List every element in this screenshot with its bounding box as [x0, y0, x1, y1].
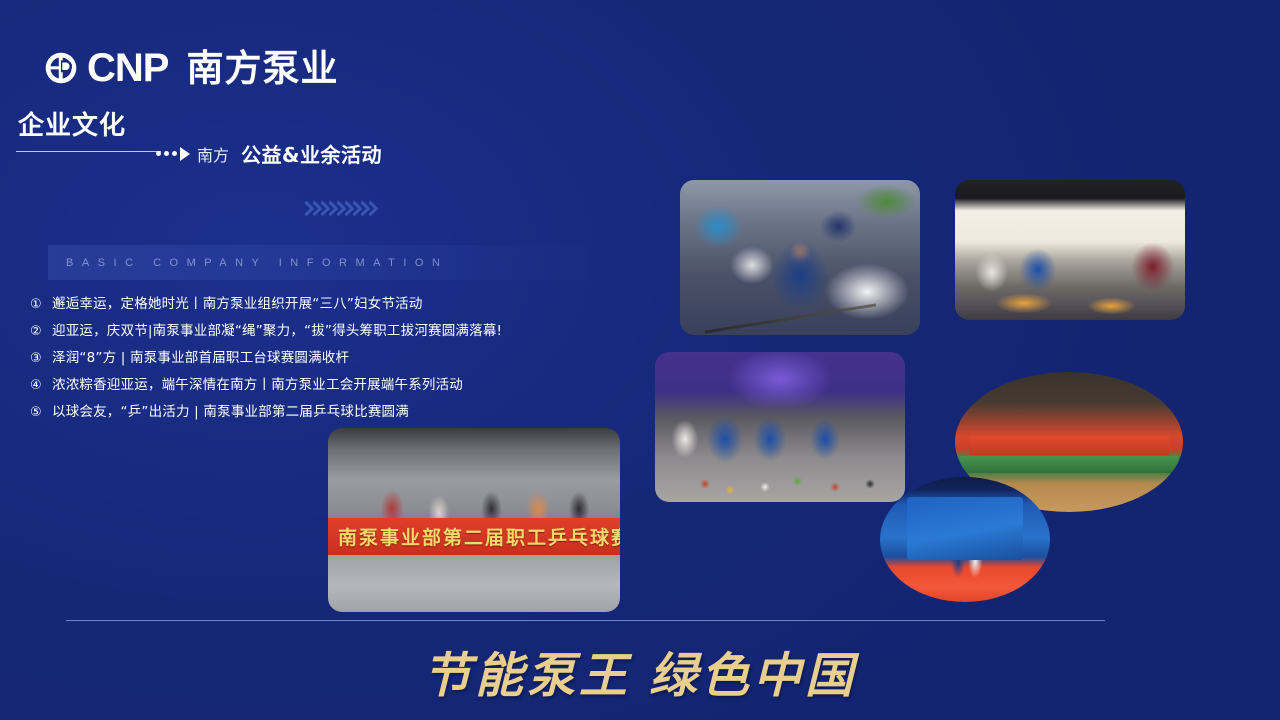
- red-banner-detail: 南泵事业部第二届职工乒乓球赛: [328, 518, 620, 555]
- title-underline: [16, 151, 161, 152]
- brand-latin-name: CNP: [87, 48, 168, 88]
- triangle-right-icon: [180, 147, 190, 161]
- section-heading: 企业文化 南方 公益&业余活动: [16, 112, 416, 141]
- pool-table-detail: [960, 456, 1179, 473]
- subtitle-prefix: 南方: [197, 142, 229, 166]
- brand-logo: CNP 南方泵业: [44, 48, 338, 88]
- page-title: 企业文化: [16, 112, 416, 141]
- list-item: ② 迎亚运，庆双节|南泵事业部凝“绳”聚力，“拔”得头筹职工拔河赛圆满落幕!: [30, 318, 630, 345]
- photo-content: [955, 180, 1185, 320]
- list-item-label: 泽润“8”方 | 南泵事业部首届职工台球赛圆满收杆: [52, 345, 349, 371]
- list-item-number: ②: [30, 319, 52, 345]
- tug-of-war-photo: [680, 180, 920, 335]
- list-item-label: 以球会友，“乒”出活力 | 南泵事业部第二届乒乓球比赛圆满: [52, 399, 409, 425]
- slogan-part-2: 绿色中国: [649, 648, 857, 704]
- basic-info-band: BASIC COMPANY INFORMATION: [48, 245, 588, 280]
- photo-content: [680, 180, 920, 335]
- canteen-buffet-photo: [955, 180, 1185, 320]
- list-item-number: ④: [30, 373, 52, 399]
- chevron-row-icon: [302, 196, 374, 220]
- footer-divider: [66, 620, 1105, 621]
- photo-content: [655, 352, 905, 502]
- stage-screen-detail: [907, 497, 1023, 560]
- red-banner-detail: [969, 436, 1170, 454]
- table-tennis-group-photo: 南泵事业部第二届职工乒乓球赛: [328, 428, 620, 612]
- list-item-number: ①: [30, 292, 52, 318]
- brand-chinese-name: 南方泵业: [186, 50, 338, 87]
- activity-list: ① 邂逅幸运，定格她时光丨南方泵业组织开展“三八”妇女节活动 ② 迎亚运，庆双节…: [30, 291, 630, 426]
- basic-info-label: BASIC COMPANY INFORMATION: [48, 257, 448, 269]
- list-item-label: 浓浓粽香迎亚运，端午深情在南方丨南方泵业工会开展端午系列活动: [52, 372, 463, 398]
- list-item: ④ 浓浓粽香迎亚运，端午深情在南方丨南方泵业工会开展端午系列活动: [30, 372, 630, 399]
- sports-meeting-photo: [655, 352, 905, 502]
- subtitle-main: 公益&业余活动: [241, 139, 382, 168]
- list-item-label: 迎亚运，庆双节|南泵事业部凝“绳”聚力，“拔”得头筹职工拔河赛圆满落幕!: [52, 318, 502, 344]
- three-dots-icon: [156, 151, 177, 156]
- slogan-part-1: 节能泵王: [423, 648, 631, 704]
- list-item: ⑤ 以球会友，“乒”出活力 | 南泵事业部第二届乒乓球比赛圆满: [30, 399, 630, 426]
- award-ceremony-photo: [880, 477, 1050, 602]
- list-item-label: 邂逅幸运，定格她时光丨南方泵业组织开展“三八”妇女节活动: [52, 291, 423, 317]
- slide-root: CNP 南方泵业 企业文化 南方 公益&业余活动 BASIC COMPANY I…: [0, 0, 1280, 720]
- list-item-number: ③: [30, 346, 52, 372]
- list-item: ① 邂逅幸运，定格她时光丨南方泵业组织开展“三八”妇女节活动: [30, 291, 630, 318]
- footer-slogan: 节能泵王绿色中国: [0, 636, 1280, 706]
- banner-text: 南泵事业部第二届职工乒乓球赛: [328, 523, 620, 550]
- list-item: ③ 泽润“8”方 | 南泵事业部首届职工台球赛圆满收杆: [30, 345, 630, 372]
- list-item-number: ⑤: [30, 400, 52, 426]
- subtitle-row: 南方 公益&业余活动: [156, 139, 382, 168]
- cnp-circular-mark-icon: [44, 51, 78, 85]
